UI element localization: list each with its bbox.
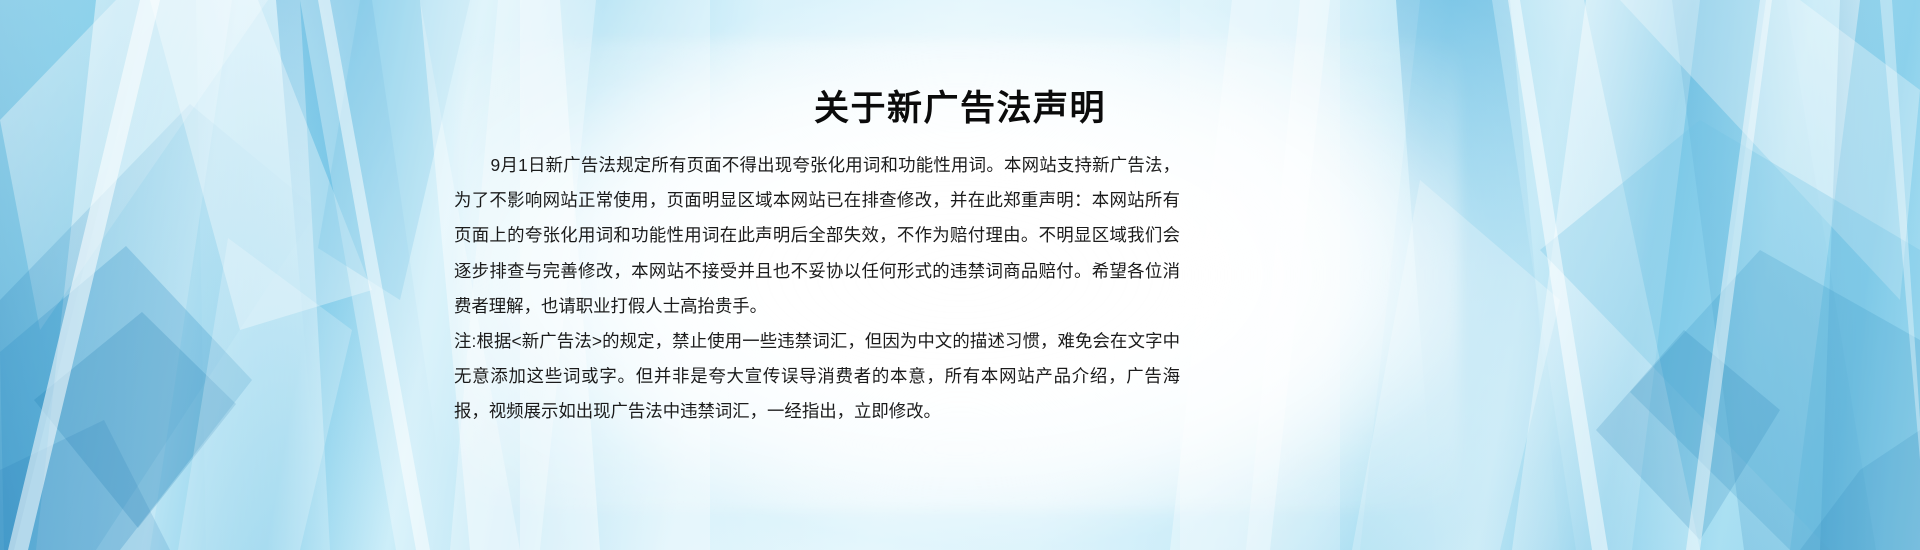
- statement-paragraph-1: 9月1日新广告法规定所有页面不得出现夸张化用词和功能性用词。本网站支持新广告法，…: [454, 148, 1180, 324]
- banner-content: 关于新广告法声明 9月1日新广告法规定所有页面不得出现夸张化用词和功能性用词。本…: [0, 0, 1920, 550]
- page-title: 关于新广告法声明: [0, 88, 1920, 130]
- statement-paragraph-2: 注:根据<新广告法>的规定，禁止使用一些违禁词汇，但因为中文的描述习惯，难免会在…: [454, 324, 1180, 430]
- advertising-law-statement-banner: 关于新广告法声明 9月1日新广告法规定所有页面不得出现夸张化用词和功能性用词。本…: [0, 0, 1920, 550]
- statement-body: 9月1日新广告法规定所有页面不得出现夸张化用词和功能性用词。本网站支持新广告法，…: [454, 148, 1180, 430]
